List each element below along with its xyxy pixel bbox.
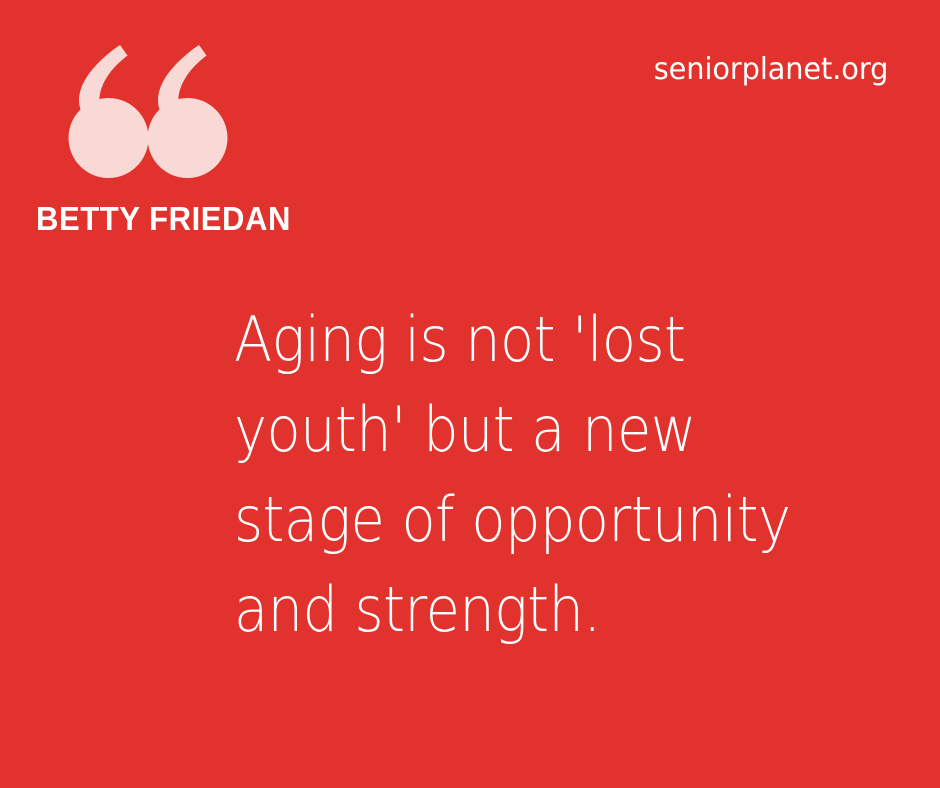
site-url-label: seniorplanet.org (654, 51, 888, 89)
quote-card: BETTY FRIEDAN seniorplanet.org Aging is … (0, 0, 940, 788)
quote-line: stage of opportunity (234, 475, 774, 565)
double-open-quote-icon (46, 44, 224, 182)
author-attribution: BETTY FRIEDAN (36, 200, 291, 238)
quote-line: and strength. (234, 565, 774, 655)
quote-line: Aging is not 'lost (234, 295, 774, 385)
quote-text-block: Aging is not 'lost youth' but a new stag… (234, 295, 834, 655)
quote-line: youth' but a new (234, 385, 774, 475)
